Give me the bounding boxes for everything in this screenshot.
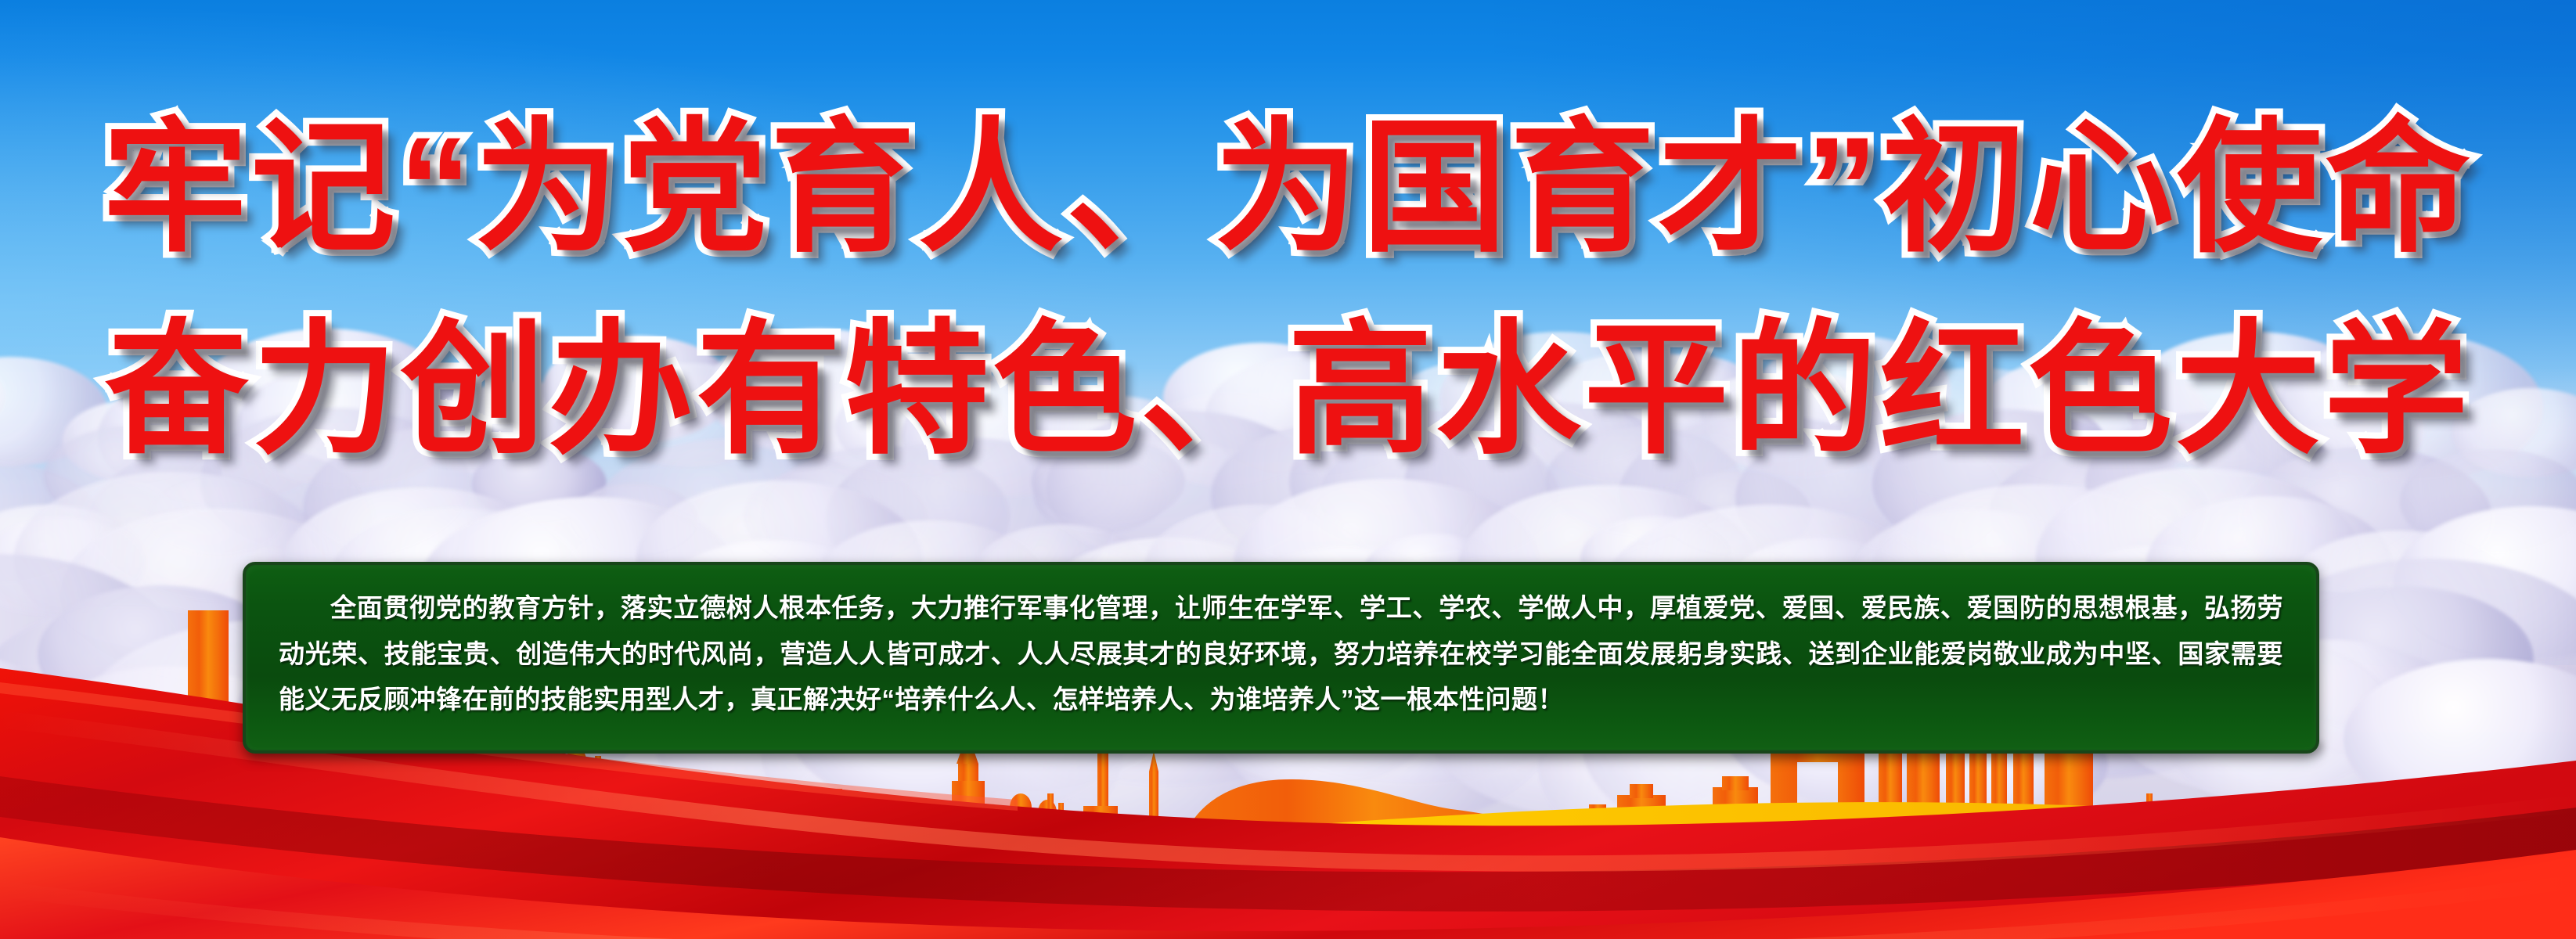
green-message-panel: 全面贯彻党的教育方针，落实立德树人根本任务，大力推行军事化管理，让师生在学军、学… [243,562,2319,754]
poster-headline: 牢记“为党育人、为国育才”初心使命 奋力创办有特色、高水平的红色大学 [0,92,2576,487]
poster-canvas: 牢记“为党育人、为国育才”初心使命 奋力创办有特色、高水平的红色大学 [0,0,2576,939]
headline-line-1: 牢记“为党育人、为国育才”初心使命 [0,92,2576,285]
green-panel-body-text: 全面贯彻党的教育方针，落实立德树人根本任务，大力推行军事化管理，让师生在学军、学… [279,585,2283,723]
headline-line-2: 奋力创办有特色、高水平的红色大学 [0,294,2576,487]
